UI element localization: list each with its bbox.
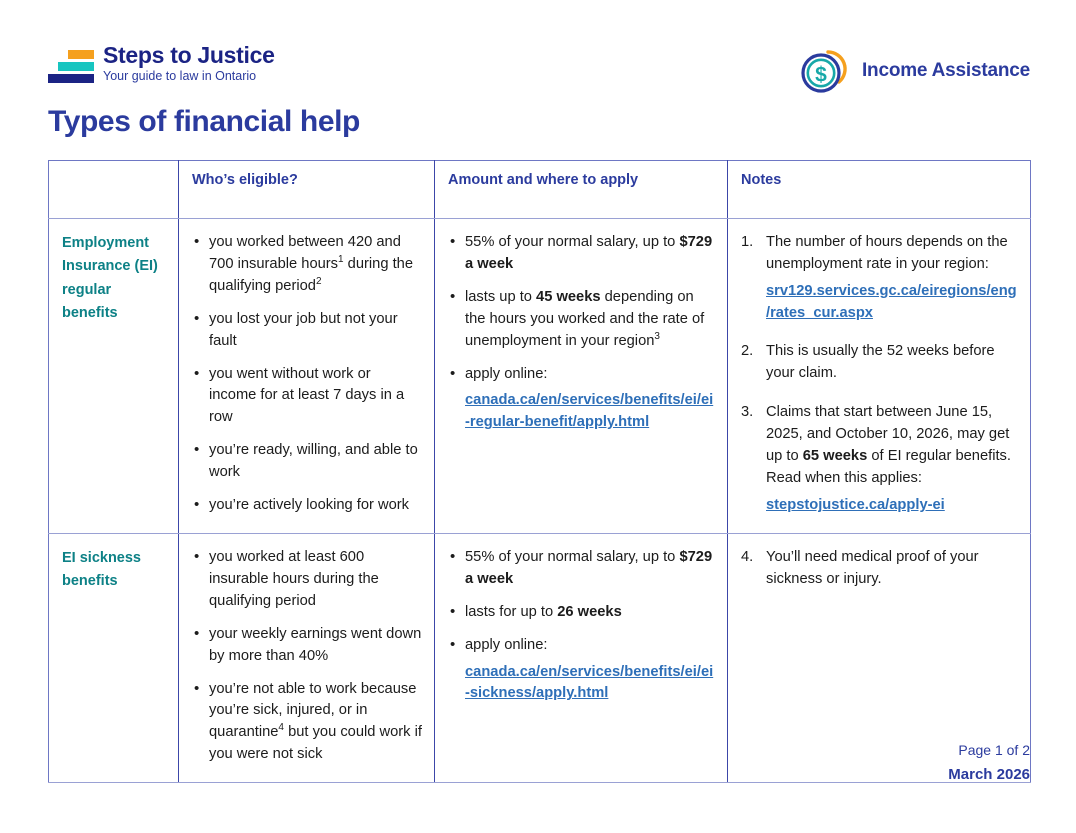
apply-link[interactable]: canada.ca/en/services/benefits/ei/ei-sic… bbox=[465, 662, 715, 706]
row-notes-cell: 1. The number of hours depends on the un… bbox=[728, 219, 1031, 534]
amount-list: 55% of your normal salary, up to $729 a … bbox=[448, 232, 715, 434]
list-item: 4. You’ll need medical proof of your sic… bbox=[741, 547, 1018, 591]
svg-text:$: $ bbox=[815, 64, 827, 87]
table-header-cell-eligible: Who’s eligible? bbox=[179, 161, 435, 219]
bar-orange bbox=[68, 50, 94, 59]
list-item: 55% of your normal salary, up to $729 a … bbox=[448, 232, 715, 276]
table-row: EI sickness benefits you worked at least… bbox=[49, 533, 1031, 782]
row-category-cell: Employment Insurance (EI) regular benefi… bbox=[49, 219, 179, 534]
income-assistance-logo: $ Income Assistance bbox=[798, 46, 1030, 96]
apply-online-label: apply online: bbox=[465, 637, 547, 653]
list-item: apply online: canada.ca/en/services/bene… bbox=[448, 635, 715, 705]
list-item: 2. This is usually the 52 weeks before y… bbox=[741, 341, 1018, 385]
steps-to-justice-logo: Steps to Justice Your guide to law in On… bbox=[48, 44, 275, 86]
document-page: Steps to Justice Your guide to law in On… bbox=[0, 0, 1076, 833]
bar-navy bbox=[48, 74, 94, 83]
note-text: You’ll need medical proof of your sickne… bbox=[766, 549, 979, 587]
table-header-row: Who’s eligible? Amount and where to appl… bbox=[49, 161, 1031, 219]
eligibility-list: you worked between 420 and 700 insurable… bbox=[192, 232, 422, 517]
note-text: Claims that start between June 15, 2025,… bbox=[766, 404, 1011, 486]
list-item: you’re actively looking for work bbox=[192, 495, 422, 517]
row-eligible-cell: you worked at least 600 insurable hours … bbox=[179, 533, 435, 782]
list-item: you worked between 420 and 700 insurable… bbox=[192, 232, 422, 298]
note-number: 1. bbox=[741, 232, 753, 254]
list-item: you worked at least 600 insurable hours … bbox=[192, 547, 422, 613]
notes-list: 4. You’ll need medical proof of your sic… bbox=[741, 547, 1018, 591]
table-header-cell-notes: Notes bbox=[728, 161, 1031, 219]
apply-link[interactable]: canada.ca/en/services/benefits/ei/ei-reg… bbox=[465, 390, 715, 434]
financial-help-table: Who’s eligible? Amount and where to appl… bbox=[48, 160, 1031, 783]
row-amount-cell: 55% of your normal salary, up to $729 a … bbox=[435, 533, 728, 782]
category-label: Employment Insurance (EI) regular benefi… bbox=[62, 232, 166, 326]
list-item: 1. The number of hours depends on the un… bbox=[741, 232, 1018, 324]
header-label-amount: Amount and where to apply bbox=[448, 172, 717, 188]
bar-teal bbox=[58, 62, 94, 71]
list-item: you’re ready, willing, and able to work bbox=[192, 440, 422, 484]
apply-online-label: apply online: bbox=[465, 366, 547, 382]
header-label-eligible: Who’s eligible? bbox=[192, 172, 424, 188]
document-header: Steps to Justice Your guide to law in On… bbox=[48, 44, 1030, 98]
list-item: you’re not able to work because you’re s… bbox=[192, 679, 422, 767]
row-eligible-cell: you worked between 420 and 700 insurable… bbox=[179, 219, 435, 534]
table-header-cell-category bbox=[49, 161, 179, 219]
table-row: Employment Insurance (EI) regular benefi… bbox=[49, 219, 1031, 534]
publication-date: March 2026 bbox=[948, 766, 1030, 783]
note-text: This is usually the 52 weeks before your… bbox=[766, 343, 995, 381]
brand-title: Steps to Justice bbox=[103, 44, 275, 67]
income-assistance-label: Income Assistance bbox=[862, 60, 1030, 82]
list-item: you lost your job but not your fault bbox=[192, 309, 422, 353]
page-title: Types of financial help bbox=[48, 105, 360, 139]
category-label: EI sickness benefits bbox=[62, 547, 166, 594]
list-item: you went without work or income for at l… bbox=[192, 364, 422, 430]
amount-list: 55% of your normal salary, up to $729 a … bbox=[448, 547, 715, 705]
row-category-cell: EI sickness benefits bbox=[49, 533, 179, 782]
list-item: lasts up to 45 weeks depending on the ho… bbox=[448, 287, 715, 353]
list-item: apply online: canada.ca/en/services/bene… bbox=[448, 364, 715, 434]
table-header-cell-amount: Amount and where to apply bbox=[435, 161, 728, 219]
note-text: The number of hours depends on the unemp… bbox=[766, 234, 1008, 272]
list-item: 55% of your normal salary, up to $729 a … bbox=[448, 547, 715, 591]
note-link[interactable]: stepstojustice.ca/apply-ei bbox=[766, 495, 1018, 517]
list-item: lasts for up to 26 weeks bbox=[448, 602, 715, 624]
notes-list: 1. The number of hours depends on the un… bbox=[741, 232, 1018, 517]
eligibility-list: you worked at least 600 insurable hours … bbox=[192, 547, 422, 766]
list-item: 3. Claims that start between June 15, 20… bbox=[741, 402, 1018, 516]
note-number: 3. bbox=[741, 402, 753, 424]
stacked-bars-icon bbox=[48, 50, 94, 86]
note-number: 4. bbox=[741, 547, 753, 569]
page-number: Page 1 of 2 bbox=[948, 742, 1030, 758]
header-label-notes: Notes bbox=[741, 172, 1020, 188]
note-number: 2. bbox=[741, 341, 753, 363]
document-footer: Page 1 of 2 March 2026 bbox=[948, 742, 1030, 783]
note-link[interactable]: srv129.services.gc.ca/eiregions/eng/rate… bbox=[766, 281, 1018, 325]
list-item: your weekly earnings went down by more t… bbox=[192, 624, 422, 668]
brand-tagline: Your guide to law in Ontario bbox=[103, 70, 275, 83]
dollar-coin-icon: $ bbox=[798, 46, 850, 96]
row-amount-cell: 55% of your normal salary, up to $729 a … bbox=[435, 219, 728, 534]
